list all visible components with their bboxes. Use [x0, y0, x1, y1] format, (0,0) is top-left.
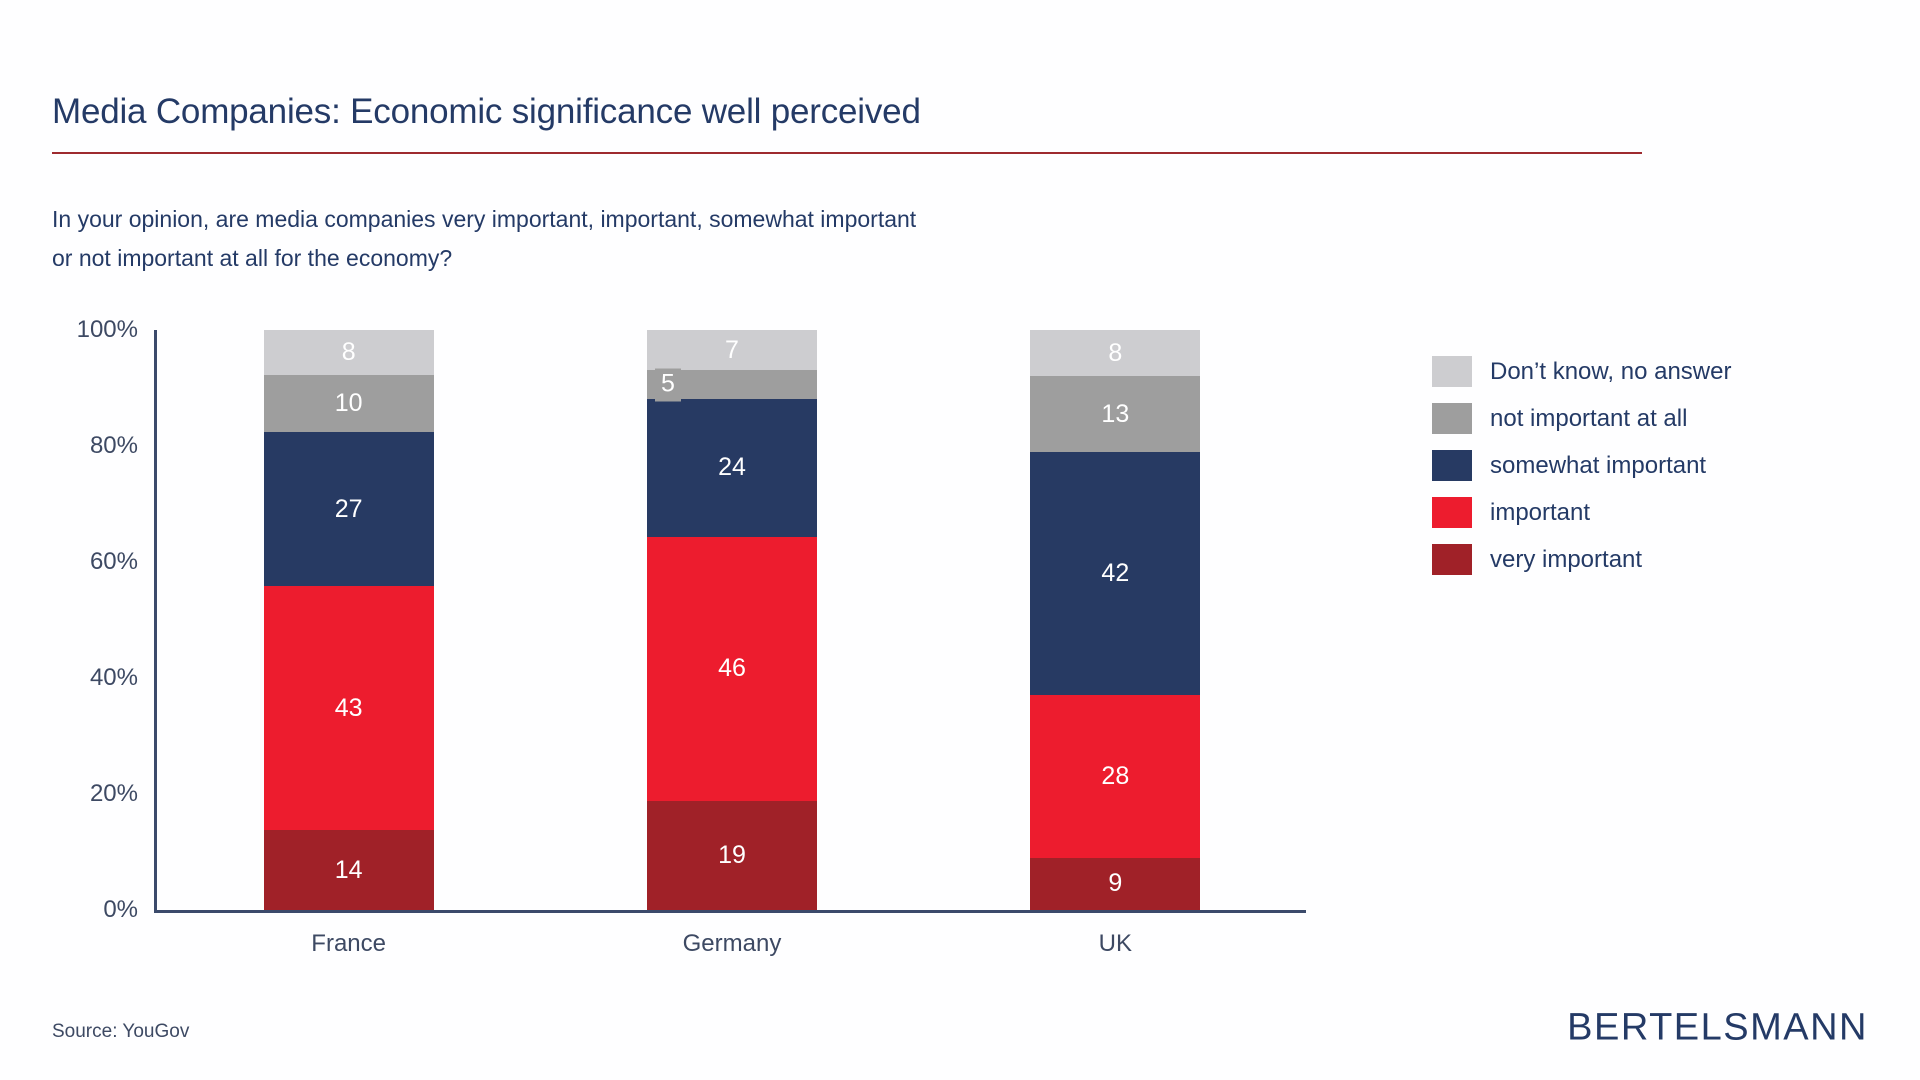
- bar-segment-value: 28: [1101, 764, 1129, 789]
- bar-segment-value: 43: [335, 696, 363, 721]
- chart-question: In your opinion, are media companies ver…: [52, 200, 916, 278]
- bar-segment[interactable]: 9: [1030, 858, 1200, 910]
- page-title: Media Companies: Economic significance w…: [52, 92, 921, 132]
- x-axis-line: [154, 910, 1306, 913]
- bar-segment[interactable]: 43: [264, 586, 434, 831]
- legend-swatch-icon: [1432, 356, 1472, 387]
- bar-segment[interactable]: 5: [647, 370, 817, 399]
- bar-segment-value: 14: [335, 858, 363, 883]
- legend-item[interactable]: somewhat important: [1432, 442, 1862, 489]
- y-axis-tick: 60%: [90, 548, 138, 576]
- bar-segment[interactable]: 7: [647, 330, 817, 370]
- legend-swatch-icon: [1432, 497, 1472, 528]
- chart-legend: Don’t know, no answernot important at al…: [1432, 348, 1862, 583]
- y-axis-tick: 20%: [90, 780, 138, 808]
- bar-segment[interactable]: 8: [264, 330, 434, 375]
- y-axis-tick: 80%: [90, 432, 138, 460]
- x-axis-category-label: France: [264, 930, 434, 958]
- bar-segment[interactable]: 14: [264, 830, 434, 910]
- legend-item[interactable]: not important at all: [1432, 395, 1862, 442]
- bar-segment-value: 42: [1101, 561, 1129, 586]
- bar-segment[interactable]: 46: [647, 537, 817, 801]
- chart-plot-area: 0%20%40%60%80%100% 810274314France752446…: [52, 330, 1312, 910]
- slide-root: Media Companies: Economic significance w…: [0, 0, 1920, 1080]
- x-axis-category-label: Germany: [647, 930, 817, 958]
- bar-segment-value: 5: [655, 368, 681, 401]
- bar-segment-value: 24: [718, 455, 746, 480]
- bar-segment-value: 8: [342, 340, 356, 365]
- legend-label: very important: [1490, 546, 1642, 574]
- bar-segment-value: 19: [718, 843, 746, 868]
- legend-item[interactable]: Don’t know, no answer: [1432, 348, 1862, 395]
- bar-segment[interactable]: 10: [264, 375, 434, 432]
- legend-item[interactable]: very important: [1432, 536, 1862, 583]
- chart-question-line-1: In your opinion, are media companies ver…: [52, 200, 916, 239]
- y-axis-tick: 40%: [90, 664, 138, 692]
- x-axis-category-label: UK: [1030, 930, 1200, 958]
- legend-label: not important at all: [1490, 405, 1687, 433]
- legend-label: important: [1490, 499, 1590, 527]
- legend-swatch-icon: [1432, 403, 1472, 434]
- y-axis-tick: 100%: [77, 316, 138, 344]
- bar-segment[interactable]: 24: [647, 399, 817, 537]
- bar-segment-value: 8: [1108, 341, 1122, 366]
- bar-segment[interactable]: 27: [264, 432, 434, 586]
- bar-segment-value: 7: [725, 338, 739, 363]
- legend-swatch-icon: [1432, 450, 1472, 481]
- bar-segment[interactable]: 19: [647, 801, 817, 910]
- bar-segment-value: 27: [335, 497, 363, 522]
- bar-segment-value: 13: [1101, 402, 1129, 427]
- legend-label: Don’t know, no answer: [1490, 358, 1731, 386]
- bar-group: 810274314France75244619Germany81342289UK: [157, 330, 1307, 910]
- chart-question-line-2: or not important at all for the economy?: [52, 239, 916, 278]
- bar-segment-value: 9: [1108, 871, 1122, 896]
- bar-segment[interactable]: 13: [1030, 376, 1200, 451]
- bar-segment[interactable]: 42: [1030, 452, 1200, 696]
- title-divider: [52, 152, 1642, 154]
- bar-segment-value: 46: [718, 656, 746, 681]
- stacked-bar-uk[interactable]: 81342289: [1030, 330, 1200, 910]
- brand-logo: BERTELSMANN: [1567, 1007, 1868, 1050]
- y-axis-tick: 0%: [103, 896, 138, 924]
- source-note: Source: YouGov: [52, 1021, 189, 1043]
- legend-item[interactable]: important: [1432, 489, 1862, 536]
- bar-segment-value: 10: [335, 391, 363, 416]
- stacked-bar-germany[interactable]: 75244619: [647, 330, 817, 910]
- stacked-bar-france[interactable]: 810274314: [264, 330, 434, 910]
- legend-swatch-icon: [1432, 544, 1472, 575]
- legend-label: somewhat important: [1490, 452, 1706, 480]
- bar-segment[interactable]: 8: [1030, 330, 1200, 376]
- bar-segment[interactable]: 28: [1030, 695, 1200, 857]
- y-axis-labels: 0%20%40%60%80%100%: [52, 330, 152, 910]
